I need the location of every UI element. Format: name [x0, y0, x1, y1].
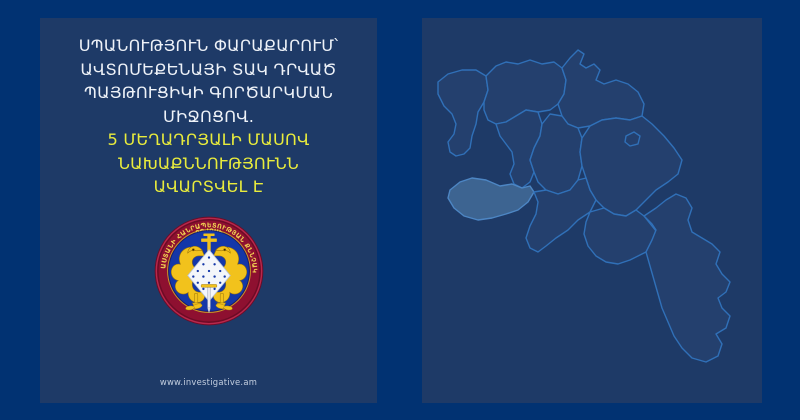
- headline-line-5: 5 ՄԵՂԱԴՐՅԱԼԻ ՄԱՍՈՎ: [54, 128, 363, 152]
- headline-line-2: ԱՎՏՈՄԵՔԵՆԱՅԻ ՏԱԿ ԴՐՎԱԾ: [54, 58, 363, 82]
- headline-line-6: ՆԱԽԱՔՆՆՈՒԹՅՈՒՆՆ: [54, 152, 363, 176]
- website-url: www.investigative.am: [40, 377, 377, 387]
- map-panel: [422, 18, 762, 403]
- headline-block: ՍՊԱՆՈՒԹՅՈՒՆ ՓԱՐԱՔԱՐՈՒՄ՝ ԱՎՏՈՄԵՔԵՆԱՅԻ ՏԱԿ…: [54, 34, 363, 199]
- text-panel: ՍՊԱՆՈՒԹՅՈՒՆ ՓԱՐԱՔԱՐՈՒՄ՝ ԱՎՏՈՄԵՔԵՆԱՅԻ ՏԱԿ…: [40, 18, 377, 403]
- headline-line-1: ՍՊԱՆՈՒԹՅՈՒՆ ՓԱՐԱՔԱՐՈՒՄ՝: [54, 34, 363, 58]
- poster-canvas: ՍՊԱՆՈՒԹՅՈՒՆ ՓԱՐԱՔԱՐՈՒՄ՝ ԱՎՏՈՄԵՔԵՆԱՅԻ ՏԱԿ…: [0, 0, 800, 420]
- headline-line-7: ԱՎԱՐՏՎԵԼ Է: [54, 175, 363, 199]
- map-region-tavush[interactable]: [558, 50, 644, 128]
- armenian-investigative-committee-emblem: ՀԱՅԱՍՏԱՆԻ ՀԱՆՐԱՊԵՏՈՒԹՅԱՆ ՔՆՆՉԱԿԱՆ ԿՈՄԻՏԵ: [153, 215, 265, 327]
- emblem-container: ՀԱՅԱՍՏԱՆԻ ՀԱՆՐԱՊԵՏՈՒԹՅԱՆ ՔՆՆՉԱԿԱՆ ԿՈՄԻՏԵ: [153, 215, 265, 327]
- map-region-shirak[interactable]: [438, 70, 488, 156]
- armenia-map: [430, 40, 760, 370]
- map-region-syunik[interactable]: [644, 194, 730, 362]
- headline-line-3: ՊԱՅԹՈՒՑԻԿԻ ԳՈՐԾԱՐԿՄԱՆ: [54, 81, 363, 105]
- headline-line-4: ՄԻՋՈՑՈՎ.: [54, 105, 363, 129]
